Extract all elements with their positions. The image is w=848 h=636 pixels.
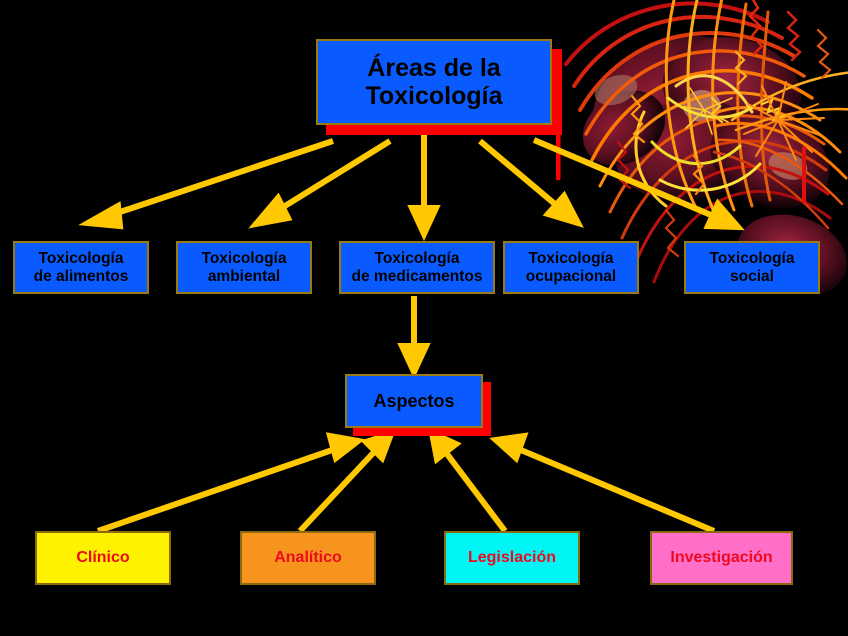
node-aspectos[interactable]: Aspectos xyxy=(345,374,483,428)
node-label: Toxicología social xyxy=(710,250,795,285)
node-toxicologia-de-medicamentos[interactable]: Toxicología de medicamentos xyxy=(339,241,495,294)
node-label: Analítico xyxy=(274,549,342,567)
node-analitico[interactable]: Analítico xyxy=(240,531,376,585)
node-investigacion[interactable]: Investigación xyxy=(650,531,793,585)
node-label: Toxicología de medicamentos xyxy=(352,250,483,285)
node-label: Toxicología ambiental xyxy=(202,250,287,285)
node-toxicologia-social[interactable]: Toxicología social xyxy=(684,241,820,294)
node-label: Áreas de la Toxicología xyxy=(365,54,502,110)
node-toxicologia-ambiental[interactable]: Toxicología ambiental xyxy=(176,241,312,294)
slide-canvas: Áreas de la Toxicología Toxicología de a… xyxy=(0,0,848,636)
node-areas-toxicologia[interactable]: Áreas de la Toxicología xyxy=(316,39,552,125)
node-label: Clínico xyxy=(76,549,129,567)
node-toxicologia-de-alimentos[interactable]: Toxicología de alimentos xyxy=(13,241,149,294)
node-label: Legislación xyxy=(468,549,556,567)
node-label: Aspectos xyxy=(373,391,454,411)
node-clinico[interactable]: Clínico xyxy=(35,531,171,585)
node-legislacion[interactable]: Legislación xyxy=(444,531,580,585)
node-label: Investigación xyxy=(670,549,772,567)
node-label: Toxicología ocupacional xyxy=(526,250,616,285)
node-label: Toxicología de alimentos xyxy=(34,250,129,285)
node-toxicologia-ocupacional[interactable]: Toxicología ocupacional xyxy=(503,241,639,294)
